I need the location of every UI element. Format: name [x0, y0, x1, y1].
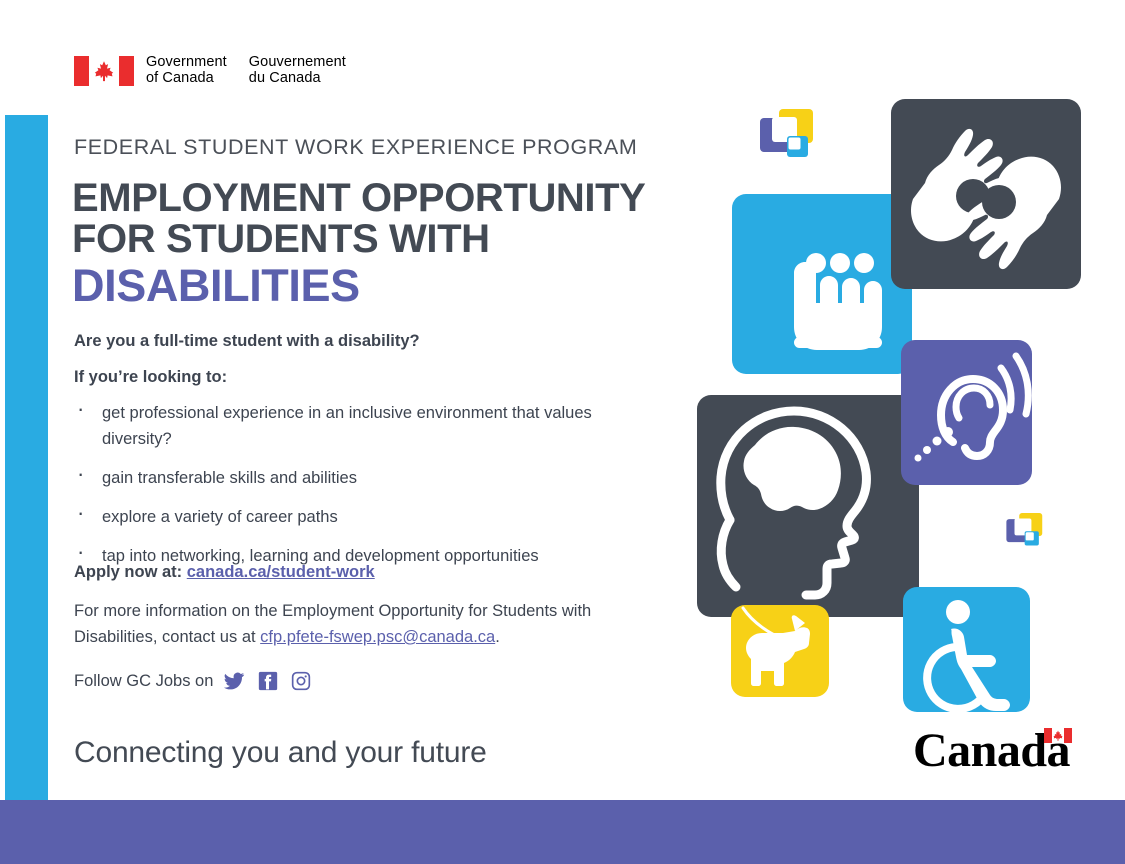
instagram-icon[interactable]	[291, 671, 311, 691]
facebook-icon[interactable]	[258, 671, 278, 691]
sign-language-icon	[891, 99, 1081, 289]
signature-en-line2: of Canada	[146, 71, 227, 87]
program-eyebrow: FEDERAL STUDENT WORK EXPERIENCE PROGRAM	[74, 135, 637, 160]
apply-label: Apply now at:	[74, 563, 187, 581]
accessibility-icon-collage	[690, 90, 1100, 730]
list-item: gain transferable skills and abilities	[74, 465, 634, 491]
follow-row: Follow GC Jobs on	[74, 670, 324, 692]
social-links	[223, 670, 324, 692]
headline-accent: DISABILITIES	[72, 262, 692, 310]
lead-subhead: If you’re looking to:	[74, 368, 227, 387]
left-accent-stripe	[5, 115, 48, 800]
more-information-paragraph: For more information on the Employment O…	[74, 598, 614, 650]
contact-email-link[interactable]: cfp.pfete-fswep.psc@canada.ca	[260, 628, 495, 646]
braille-touch-icon	[732, 194, 912, 374]
canada-wordmark-flag-icon	[1044, 728, 1072, 743]
list-item: explore a variety of career paths	[74, 504, 634, 530]
apply-link[interactable]: canada.ca/student-work	[187, 563, 375, 581]
page-title: EMPLOYMENT OPPORTUNITY FOR STUDENTS WITH…	[72, 178, 692, 310]
signature-wordmark: Government of Canada Gouvernement du Can…	[146, 55, 346, 86]
decorative-square-mark-small	[1003, 511, 1049, 557]
cognitive-head-icon	[697, 395, 919, 617]
poster-canvas: Government of Canada Gouvernement du Can…	[0, 0, 1125, 864]
headline-line-1: EMPLOYMENT OPPORTUNITY	[72, 176, 645, 220]
canada-wordmark: Canada	[913, 726, 1070, 776]
signature-fr-line2: du Canada	[249, 71, 346, 87]
wheelchair-icon	[903, 587, 1030, 712]
benefits-list: get professional experience in an inclus…	[74, 400, 634, 582]
guide-dog-icon	[731, 605, 829, 697]
bottom-accent-band	[0, 800, 1125, 864]
signature-en-line1: Government	[146, 55, 227, 71]
headline-line-2: FOR STUDENTS WITH	[72, 217, 490, 261]
hearing-assist-icon	[901, 340, 1032, 485]
canada-flag-icon	[74, 56, 134, 86]
twitter-icon[interactable]	[223, 670, 245, 692]
tagline: Connecting you and your future	[74, 736, 487, 770]
apply-line: Apply now at: canada.ca/student-work	[74, 563, 375, 582]
list-item: get professional experience in an inclus…	[74, 400, 634, 452]
government-of-canada-signature: Government of Canada Gouvernement du Can…	[74, 55, 346, 86]
decorative-square-mark-large	[755, 106, 823, 174]
more-info-period: .	[495, 628, 500, 646]
follow-label: Follow GC Jobs on	[74, 672, 213, 691]
lead-question: Are you a full-time student with a disab…	[74, 332, 420, 351]
signature-fr-line1: Gouvernement	[249, 55, 346, 71]
